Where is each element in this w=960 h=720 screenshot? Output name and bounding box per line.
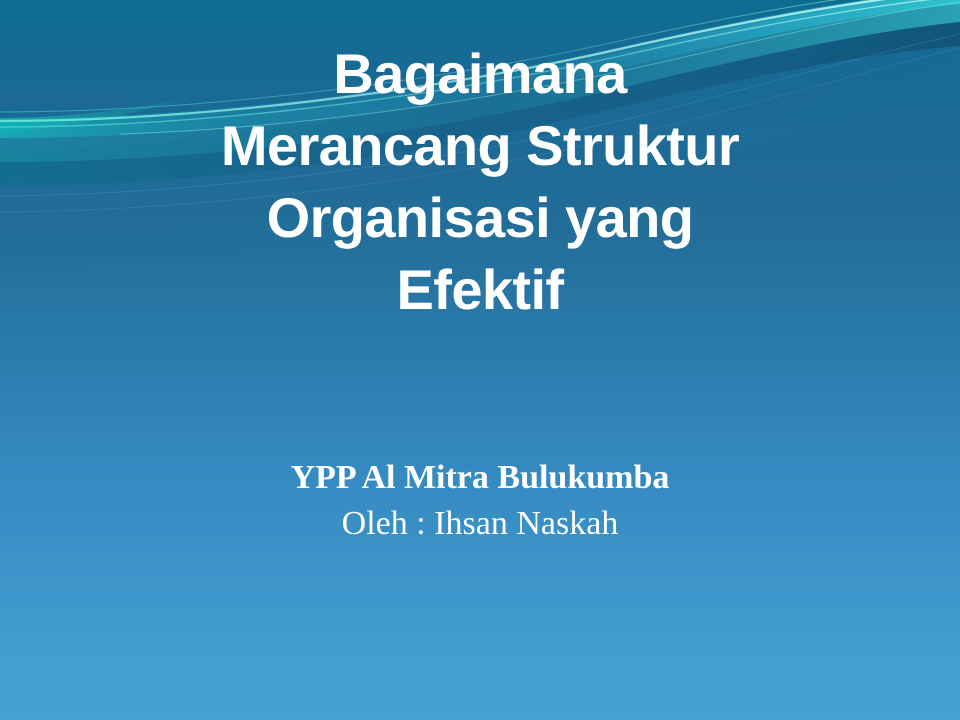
- title-line-3: Organisasi yang: [60, 182, 900, 254]
- subtitle-organization: YPP Al Mitra Bulukumba: [60, 455, 900, 501]
- title-line-1: Bagaimana: [60, 38, 900, 110]
- slide-subtitle: YPP Al Mitra Bulukumba Oleh : Ihsan Nask…: [60, 455, 900, 547]
- presentation-slide: Bagaimana Merancang Struktur Organisasi …: [0, 0, 960, 720]
- title-line-4: Efektif: [60, 254, 900, 326]
- title-line-2: Merancang Struktur: [60, 110, 900, 182]
- slide-title: Bagaimana Merancang Struktur Organisasi …: [60, 38, 900, 326]
- subtitle-author: Oleh : Ihsan Naskah: [60, 501, 900, 547]
